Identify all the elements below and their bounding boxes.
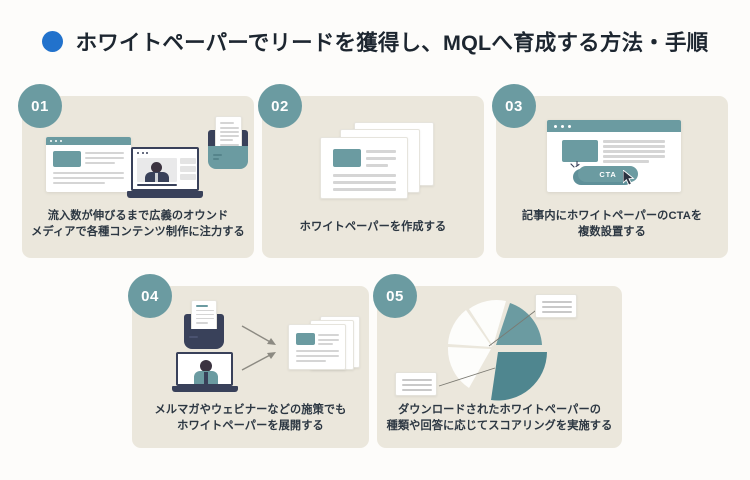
text-line [220, 131, 239, 133]
text-line [196, 314, 214, 316]
step-card-04[interactable]: 04 [132, 286, 369, 448]
caption-line: 記事内にホワイトペーパーのCTAを [496, 208, 728, 224]
step-caption-05: ダウンロードされたホワイトペーパーの 種類や回答に応じてスコアリングを実施する [377, 402, 622, 434]
text-line [53, 177, 124, 179]
text-line [366, 150, 396, 153]
text-line [53, 182, 105, 184]
text-line [85, 152, 124, 154]
caption-line: 流入数が伸びるまで広義のオウンド [22, 208, 254, 224]
step-caption-02: ホワイトペーパーを作成する [262, 219, 484, 235]
sidebar-block [180, 174, 196, 180]
caption-line: ホワイトペーパーを展開する [132, 418, 369, 434]
caption-line: ホワイトペーパーを作成する [262, 219, 484, 235]
text-line [196, 318, 214, 320]
text-line [318, 343, 333, 345]
laptop-base [127, 191, 203, 198]
text-line [542, 301, 572, 303]
text-line [196, 310, 214, 312]
cursor-arrow-icon [623, 170, 637, 188]
bullet-icon [42, 31, 63, 52]
laptop-mockup [172, 352, 238, 396]
step-card-05[interactable]: 05 [377, 286, 622, 448]
step-caption-03: 記事内にホワイトペーパーのCTAを 複数設置する [496, 208, 728, 240]
text-line [603, 160, 649, 163]
text-line [296, 360, 326, 362]
illustration-04 [132, 286, 369, 402]
text-line [366, 164, 388, 167]
caption-line: メルマガやウェビナーなどの施策でも [132, 402, 369, 418]
step-caption-04: メルマガやウェビナーなどの施策でも ホワイトペーパーを展開する [132, 402, 369, 434]
tray-slot [213, 158, 219, 160]
text-line [366, 157, 396, 160]
hero-image-block [53, 151, 81, 167]
text-line [603, 140, 665, 143]
text-line [296, 350, 339, 352]
caption-line: 種類や回答に応じてスコアリングを実施する [377, 418, 622, 434]
text-line [603, 150, 665, 153]
text-line [85, 162, 115, 164]
document-tray [200, 112, 254, 174]
laptop-base [172, 386, 238, 392]
arrow-icon [240, 348, 282, 374]
laptop-screen [131, 147, 199, 191]
progress-bar [137, 184, 177, 186]
callout-leader-line [435, 364, 501, 394]
document-card-front [320, 137, 408, 199]
tray-front-panel [184, 329, 224, 349]
window-dot-icon [142, 152, 144, 154]
text-line [196, 322, 208, 324]
text-line [318, 334, 339, 336]
text-line [333, 181, 396, 184]
illustration-02 [262, 96, 484, 214]
text-line [603, 145, 665, 148]
text-line [402, 384, 432, 386]
page-header: ホワイトペーパーでリードを獲得し、MQLへ育成する方法・手順 [0, 26, 750, 57]
illustration-03: CTA [496, 96, 728, 208]
browser-window-mockup [46, 137, 131, 192]
step-caption-01: 流入数が伸びるまで広義のオウンド メディアで各種コンテンツ制作に注力する [22, 208, 254, 240]
cta-button-label: CTA [599, 170, 616, 179]
step-card-01[interactable]: 01 [22, 96, 254, 258]
callout-label-top [535, 294, 577, 318]
laptop-screen [176, 352, 233, 386]
step-card-03[interactable]: 03 CTA [496, 96, 728, 258]
hero-image-block [333, 149, 361, 167]
caption-line: メディアで各種コンテンツ制作に注力する [22, 224, 254, 240]
tray-slot [189, 336, 198, 338]
sidebar-block [180, 166, 196, 172]
text-line [542, 311, 572, 313]
sidebar-block [180, 158, 196, 164]
text-line [402, 379, 432, 381]
infographic-page: ホワイトペーパーでリードを獲得し、MQLへ育成する方法・手順 01 [0, 0, 750, 480]
page-title: ホワイトペーパーでリードを獲得し、MQLへ育成する方法・手順 [76, 26, 709, 57]
caption-line: 複数設置する [496, 224, 728, 240]
document-tray [178, 298, 230, 352]
arrow-icon [240, 324, 282, 350]
text-line [603, 155, 665, 158]
text-line [542, 306, 572, 308]
tray-slot [213, 154, 222, 156]
document-card-front [288, 324, 346, 370]
text-line [333, 188, 396, 191]
click-sparkle-icon [569, 160, 581, 172]
text-line [85, 157, 124, 159]
illustration-05 [377, 286, 622, 402]
text-line [318, 339, 339, 341]
window-dot-icon [554, 125, 557, 128]
tray-front-panel [208, 146, 248, 169]
text-line [220, 139, 233, 141]
text-line [296, 355, 339, 357]
text-line [333, 174, 396, 177]
caption-line: ダウンロードされたホワイトペーパーの [377, 402, 622, 418]
illustration-01 [22, 96, 254, 208]
callout-label-bottom [395, 372, 437, 396]
browser-title-bar [46, 137, 131, 145]
hero-image-block [296, 333, 315, 345]
document-sheet [191, 300, 217, 332]
window-dot-icon [561, 125, 564, 128]
hero-image-block [562, 140, 598, 162]
article-browser-mockup: CTA [547, 120, 681, 192]
text-line [220, 127, 239, 129]
laptop-mockup [127, 147, 203, 201]
text-line [196, 305, 208, 307]
text-line [402, 389, 432, 391]
step-card-02[interactable]: 02 ホワイトペーパーを作成する [262, 96, 484, 258]
text-line [53, 172, 124, 174]
text-line [220, 122, 234, 124]
window-dot-icon [568, 125, 571, 128]
text-line [220, 135, 239, 137]
